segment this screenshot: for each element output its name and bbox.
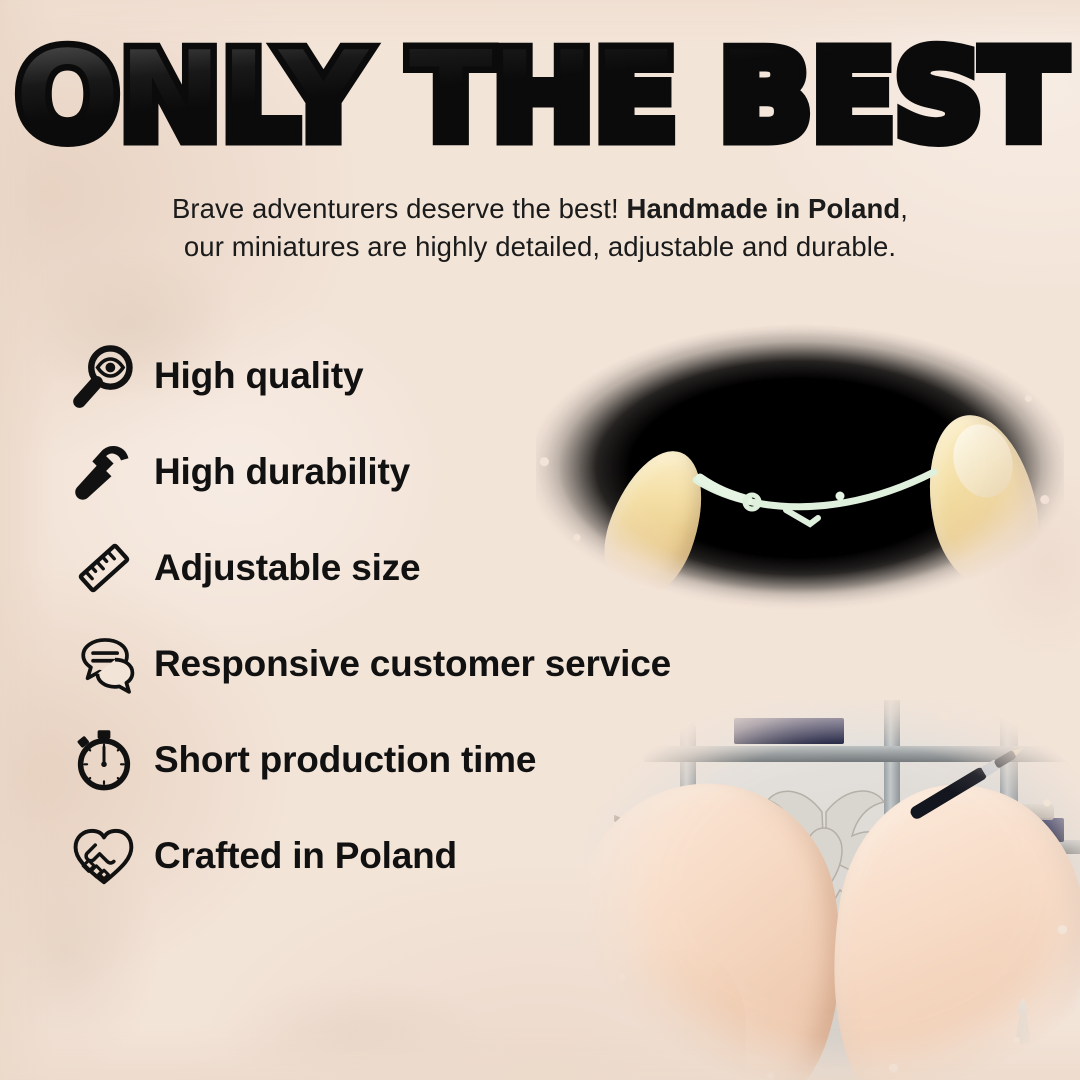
- subtitle-tail: ,: [900, 193, 908, 224]
- feature-label: Responsive customer service: [154, 643, 671, 685]
- handshake-heart-icon: [62, 817, 146, 895]
- parts-tray: [734, 718, 844, 744]
- ruler-icon: [62, 529, 146, 607]
- subtitle: Brave adventurers deserve the best! Hand…: [0, 190, 1080, 266]
- speech-bubbles-icon: [62, 625, 146, 703]
- feature-label: Short production time: [154, 739, 536, 781]
- magnifier-eye-icon: [62, 337, 146, 415]
- workshop-painting-miniature-photo: [584, 700, 1080, 1080]
- miniature-part: [690, 466, 940, 528]
- feature-label: Adjustable size: [154, 547, 420, 589]
- feature-label: Crafted in Poland: [154, 835, 457, 877]
- stopwatch-icon: [62, 721, 146, 799]
- poster-root: ONLY THE BEST ONLY THE BEST Brave advent…: [0, 0, 1080, 1080]
- hammer-icon: [62, 433, 146, 511]
- subtitle-lead: Brave adventurers deserve the best!: [172, 193, 619, 224]
- forearm: [596, 950, 746, 1080]
- subtitle-line-2: our miniatures are highly detailed, adju…: [0, 228, 1080, 266]
- fingers-holding-miniature-photo: [536, 318, 1064, 618]
- feature-item: Responsive customer service: [62, 616, 802, 712]
- page-title: ONLY THE BEST: [0, 36, 1080, 159]
- subtitle-highlight: Handmade in Poland: [627, 193, 901, 224]
- subtitle-line-1: Brave adventurers deserve the best! Hand…: [0, 190, 1080, 228]
- feature-label: High quality: [154, 355, 363, 397]
- feature-label: High durability: [154, 451, 410, 493]
